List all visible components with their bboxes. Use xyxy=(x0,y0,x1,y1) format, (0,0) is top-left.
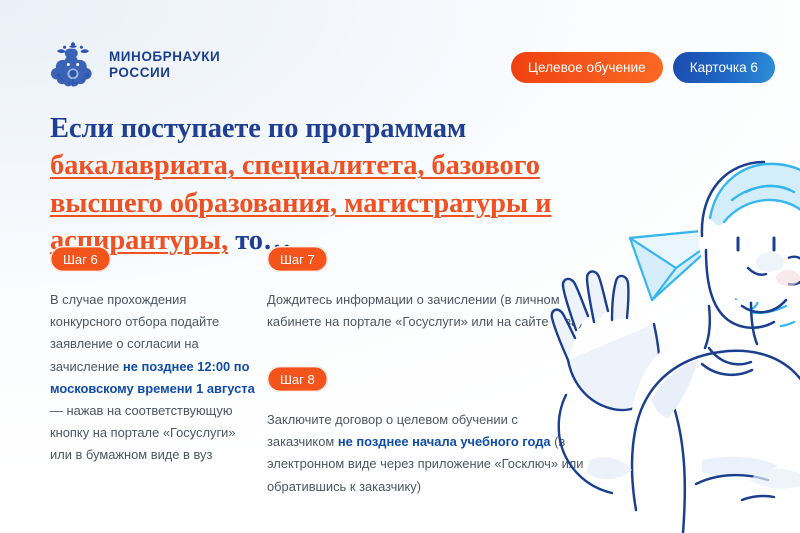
ministry-logo: МИНОБРНАУКИ РОССИИ xyxy=(50,40,220,90)
paper-plane-icon xyxy=(630,228,732,300)
step-chip-8: Шаг 8 xyxy=(267,366,328,392)
man-figure xyxy=(586,162,800,533)
page-title: Если поступаете по программам бакалавриа… xyxy=(50,110,610,260)
header-badges: Целевое обучение Карточка 6 xyxy=(511,52,775,83)
step-chip-6: Шаг 6 xyxy=(50,246,111,272)
step-8-text-bold: не позднее начала учебного года xyxy=(338,434,551,449)
headline-part-2-highlight: бакалавриата, специалитета, базового выс… xyxy=(50,150,551,256)
step-text-7: Дождитесь информации о зачислении (в лич… xyxy=(267,289,587,333)
badge-card-number[interactable]: Карточка 6 xyxy=(673,52,775,83)
step-text-8: Заключите договор о целевом обучении с з… xyxy=(267,409,587,498)
ministry-logo-text: МИНОБРНАУКИ РОССИИ xyxy=(109,49,220,82)
step-block-7: Шаг 7 Дождитесь информации о зачислении … xyxy=(267,246,597,333)
headline-part-1: Если поступаете по программам xyxy=(50,113,466,144)
russia-coat-of-arms-emblem xyxy=(50,40,96,90)
step-block-8: Шаг 8 Заключите договор о целевом обучен… xyxy=(267,366,597,498)
badge-topic[interactable]: Целевое обучение xyxy=(511,52,663,83)
eyes xyxy=(738,238,774,250)
plane-trail-swirl xyxy=(736,288,794,327)
infographic-card: МИНОБРНАУКИ РОССИИ Целевое обучение Карт… xyxy=(0,0,800,533)
step-chip-7: Шаг 7 xyxy=(267,246,328,272)
step-block-6: Шаг 6 В случае прохождения конкурсного о… xyxy=(50,246,255,467)
step-text-6: В случае прохождения конкурсного отбора … xyxy=(50,289,255,467)
step-7-text-part-1: Дождитесь информации о зачислении (в лич… xyxy=(267,292,583,329)
step-6-text-part-2: — нажав на соответствующую кнопку на пор… xyxy=(50,403,236,462)
